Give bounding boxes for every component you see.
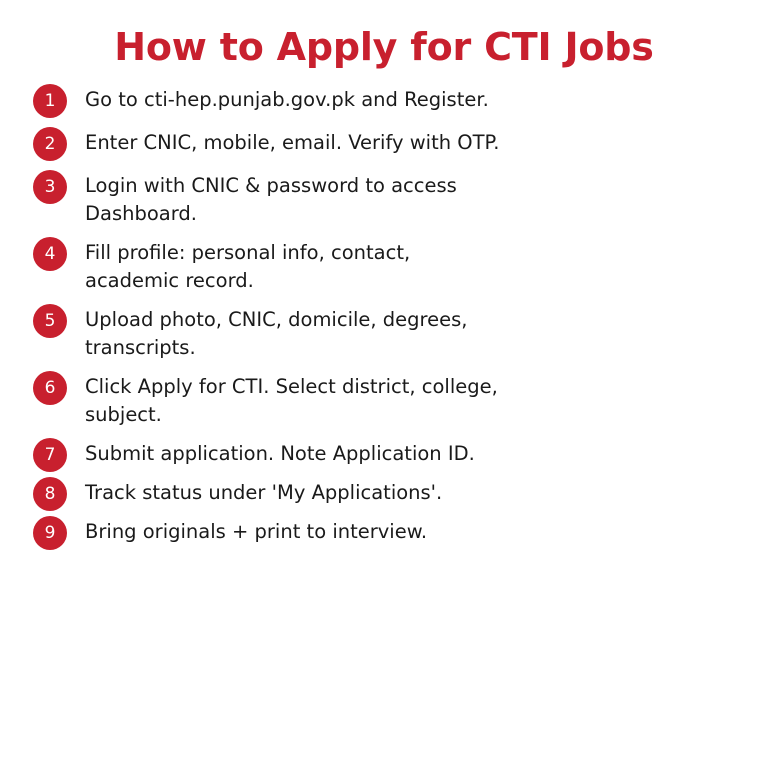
step-badge-8: 8	[33, 477, 67, 511]
step-text-4: Fill profile: personal info, contact, ac…	[85, 237, 505, 295]
step-text-3: Login with CNIC & password to access Das…	[85, 170, 505, 228]
list-item: 5 Upload photo, CNIC, domicile, degrees,…	[33, 304, 733, 362]
list-item: 3 Login with CNIC & password to access D…	[33, 170, 733, 228]
step-badge-2: 2	[33, 127, 67, 161]
steps-list: 1 Go to cti-hep.punjab.gov.pk and Regist…	[33, 84, 733, 555]
list-item: 4 Fill profile: personal info, contact, …	[33, 237, 733, 295]
infographic-canvas: How to Apply for CTI Jobs 1 Go to cti-he…	[0, 0, 768, 768]
step-badge-4: 4	[33, 237, 67, 271]
step-badge-3: 3	[33, 170, 67, 204]
step-badge-5: 5	[33, 304, 67, 338]
step-text-7: Submit application. Note Application ID.	[85, 438, 605, 468]
step-text-6: Click Apply for CTI. Select district, co…	[85, 371, 505, 429]
list-item: 7 Submit application. Note Application I…	[33, 438, 733, 472]
step-badge-1: 1	[33, 84, 67, 118]
step-text-1: Go to cti-hep.punjab.gov.pk and Register…	[85, 84, 505, 114]
step-text-2: Enter CNIC, mobile, email. Verify with O…	[85, 127, 505, 157]
list-item: 8 Track status under 'My Applications'.	[33, 477, 733, 511]
page-title: How to Apply for CTI Jobs	[0, 25, 768, 69]
list-item: 1 Go to cti-hep.punjab.gov.pk and Regist…	[33, 84, 733, 118]
list-item: 6 Click Apply for CTI. Select district, …	[33, 371, 733, 429]
step-badge-7: 7	[33, 438, 67, 472]
step-badge-9: 9	[33, 516, 67, 550]
list-item: 9 Bring originals + print to interview.	[33, 516, 733, 550]
step-text-8: Track status under 'My Applications'.	[85, 477, 605, 507]
step-text-5: Upload photo, CNIC, domicile, degrees, t…	[85, 304, 505, 362]
step-badge-6: 6	[33, 371, 67, 405]
step-text-9: Bring originals + print to interview.	[85, 516, 605, 546]
list-item: 2 Enter CNIC, mobile, email. Verify with…	[33, 127, 733, 161]
